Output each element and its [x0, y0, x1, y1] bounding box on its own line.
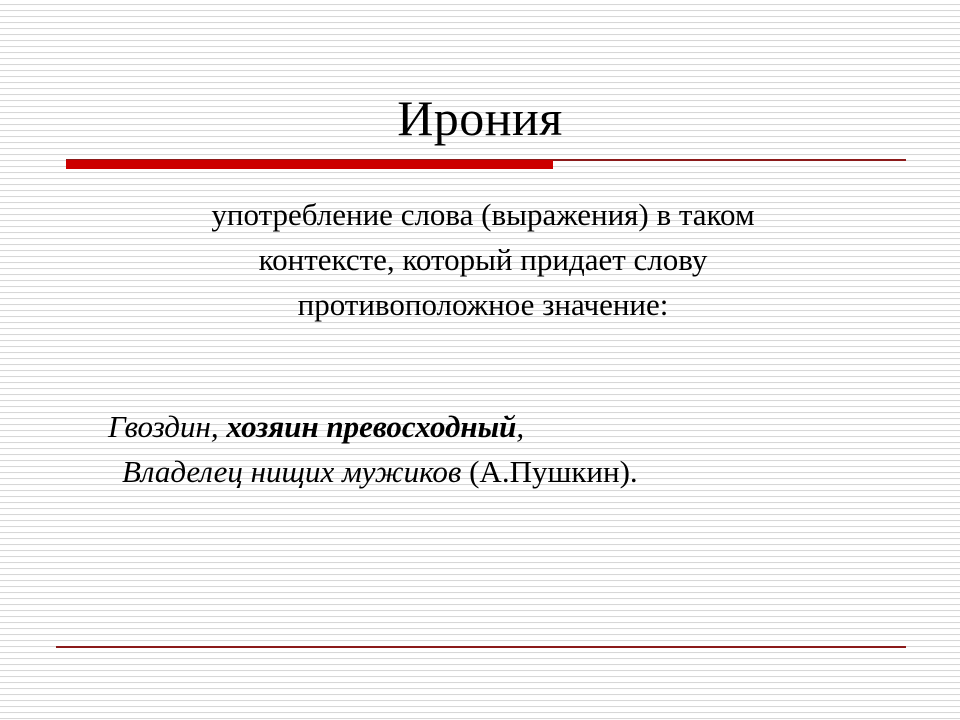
title-divider — [66, 158, 906, 170]
quote-text-italic: Гвоздин, — [108, 409, 226, 444]
quote-line: Владелец нищих мужиков (А.Пушкин). — [108, 449, 868, 494]
quote-text-emphasis: хозяин превосходный — [226, 409, 516, 444]
divider-accent-bar — [66, 160, 553, 169]
quote-attribution: (А.Пушкин). — [469, 454, 638, 489]
definition-line: противоположное значение: — [100, 282, 866, 327]
title-area: Ирония — [0, 92, 960, 145]
quote-text-italic: Владелец нищих мужиков — [122, 454, 469, 489]
presentation-slide: Ирония употребление слова (выражения) в … — [0, 0, 960, 720]
definition-paragraph: употребление слова (выражения) в таком к… — [100, 192, 866, 327]
bottom-divider — [56, 646, 906, 648]
definition-line: употребление слова (выражения) в таком — [100, 192, 866, 237]
page-title: Ирония — [397, 92, 563, 145]
definition-line: контексте, который придает слову — [100, 237, 866, 282]
quote-text-italic: , — [516, 409, 524, 444]
quotation-block: Гвоздин, хозяин превосходный, Владелец н… — [108, 404, 868, 494]
quote-line: Гвоздин, хозяин превосходный, — [108, 404, 868, 449]
